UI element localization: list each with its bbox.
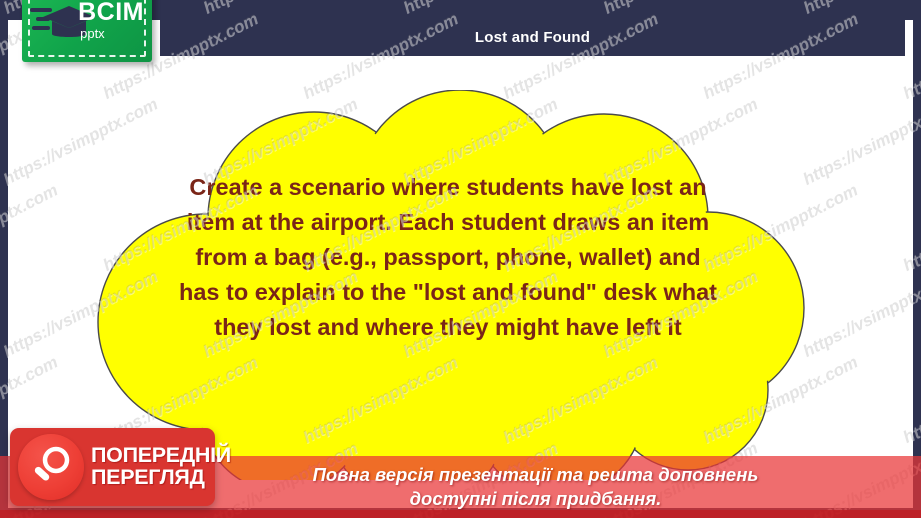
logo-suffix-text: pptx [80, 27, 144, 40]
banner-line-2: доступні після придбання. [313, 487, 759, 511]
bcim-logo[interactable]: BCIM pptx [22, 0, 152, 62]
banner-bottom-strip [0, 510, 921, 518]
slide-title-bar: Lost and Found [160, 18, 905, 56]
logo-brand-text: BCIM [78, 0, 144, 25]
magnifier-icon [31, 446, 71, 488]
preview-badge-line-1: ПОПЕРЕДНІЙ [91, 445, 231, 467]
preview-badge-line-2: ПЕРЕГЛЯД [91, 467, 231, 489]
logo-wordmark: BCIM pptx [78, 0, 144, 40]
preview-badge-label: ПОПЕРЕДНІЙ ПЕРЕГЛЯД [91, 445, 231, 489]
logo-card: BCIM pptx [22, 0, 152, 62]
preview-badge-circle [18, 434, 84, 500]
page-title: Lost and Found [475, 29, 590, 46]
preview-badge[interactable]: ПОПЕРЕДНІЙ ПЕРЕГЛЯД [10, 428, 215, 506]
slide-viewer: Create a scenario where students have lo… [0, 0, 921, 518]
purchase-banner-text: Повна версія презентації та решта доповн… [163, 463, 759, 511]
banner-line-1: Повна версія презентації та решта доповн… [313, 463, 759, 487]
slide-body-text: Create a scenario where students have lo… [178, 170, 718, 345]
